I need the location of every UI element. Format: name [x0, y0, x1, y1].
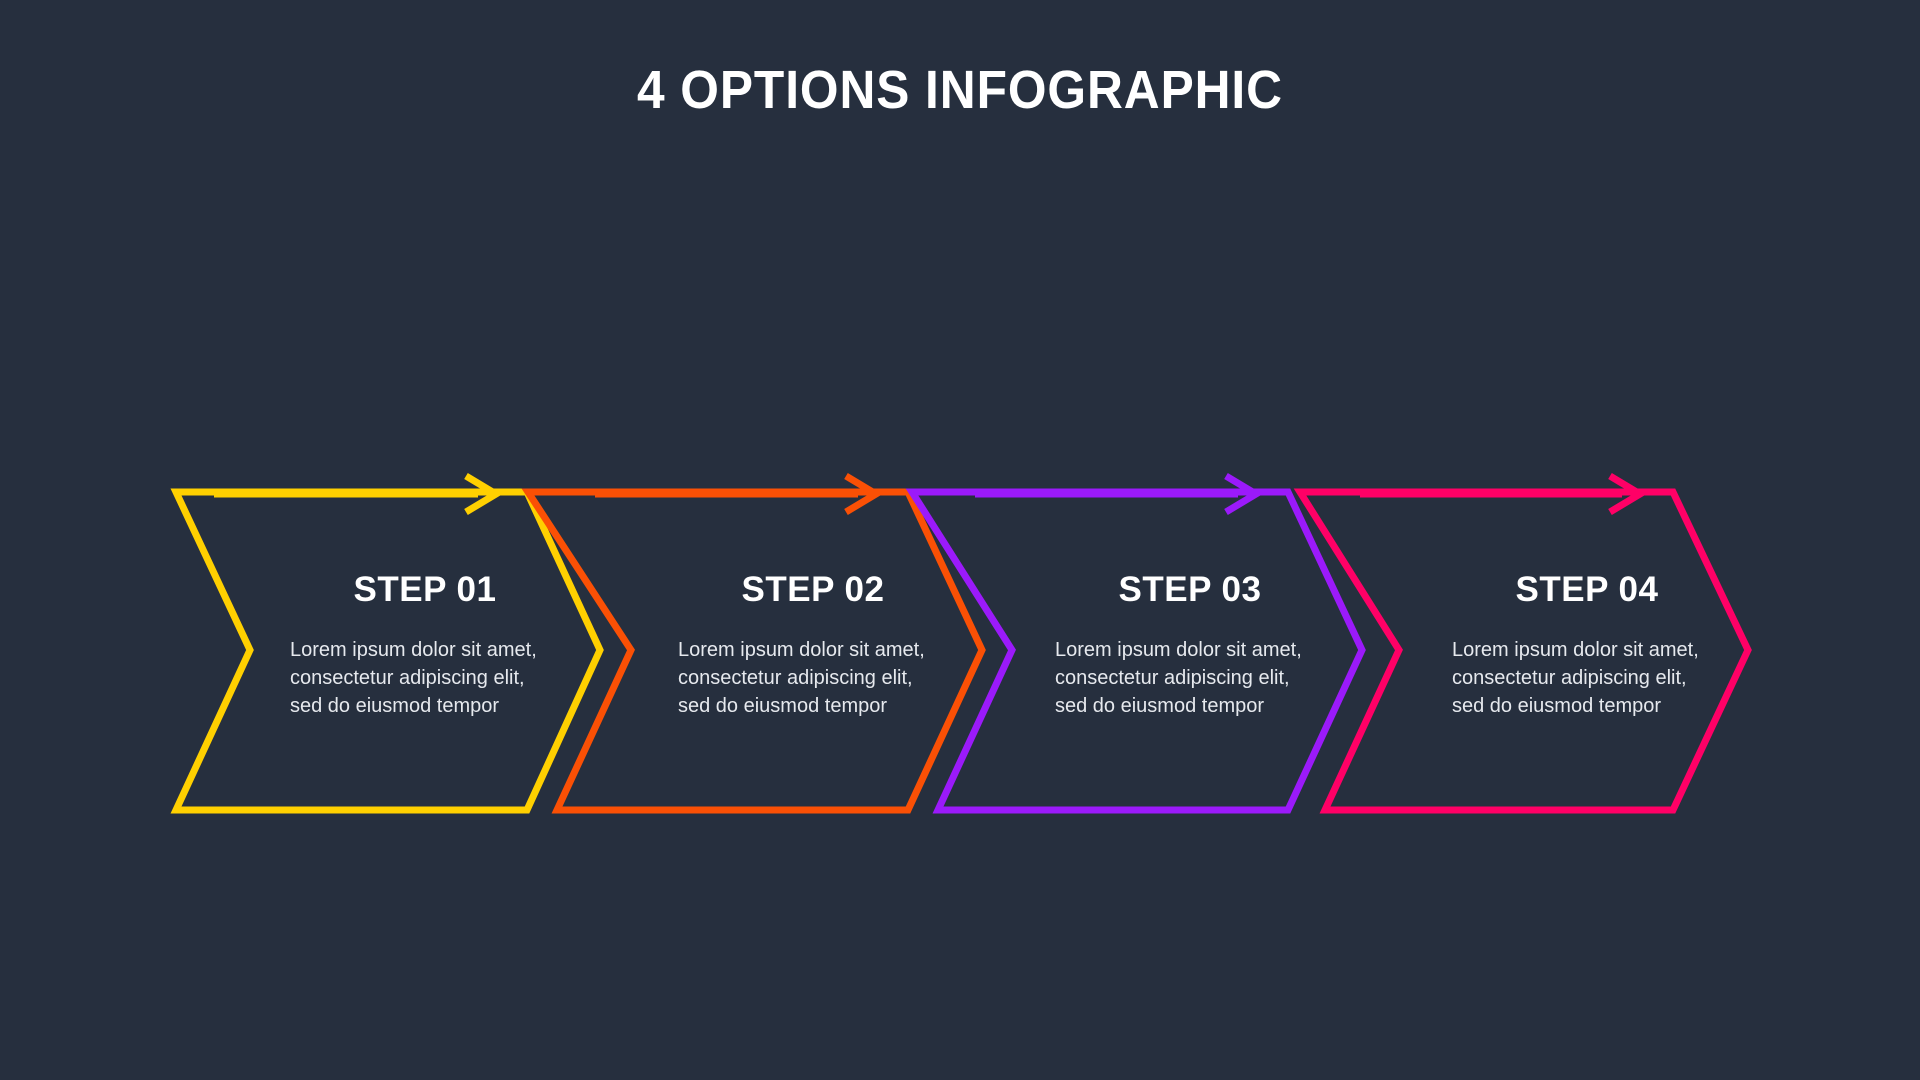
- infographic-canvas: 4 OPTIONS INFOGRAPHIC: [0, 0, 1920, 1080]
- step-01-heading: STEP 01: [290, 570, 560, 610]
- step-03-body: Lorem ipsum dolor sit amet, consectetur …: [1055, 636, 1325, 720]
- step-02-text-block: STEP 02 Lorem ipsum dolor sit amet, cons…: [678, 570, 948, 720]
- step-02-body: Lorem ipsum dolor sit amet, consectetur …: [678, 636, 948, 720]
- infographic-graphics: [0, 0, 1920, 1080]
- step-02-heading: STEP 02: [678, 570, 948, 610]
- step-03-heading: STEP 03: [1055, 570, 1325, 610]
- step-04-heading: STEP 04: [1452, 570, 1722, 610]
- step-04-body: Lorem ipsum dolor sit amet, consectetur …: [1452, 636, 1722, 720]
- step-01-text-block: STEP 01 Lorem ipsum dolor sit amet, cons…: [290, 570, 560, 720]
- step-03-text-block: STEP 03 Lorem ipsum dolor sit amet, cons…: [1055, 570, 1325, 720]
- step-04-text-block: STEP 04 Lorem ipsum dolor sit amet, cons…: [1452, 570, 1722, 720]
- step-01-body: Lorem ipsum dolor sit amet, consectetur …: [290, 636, 560, 720]
